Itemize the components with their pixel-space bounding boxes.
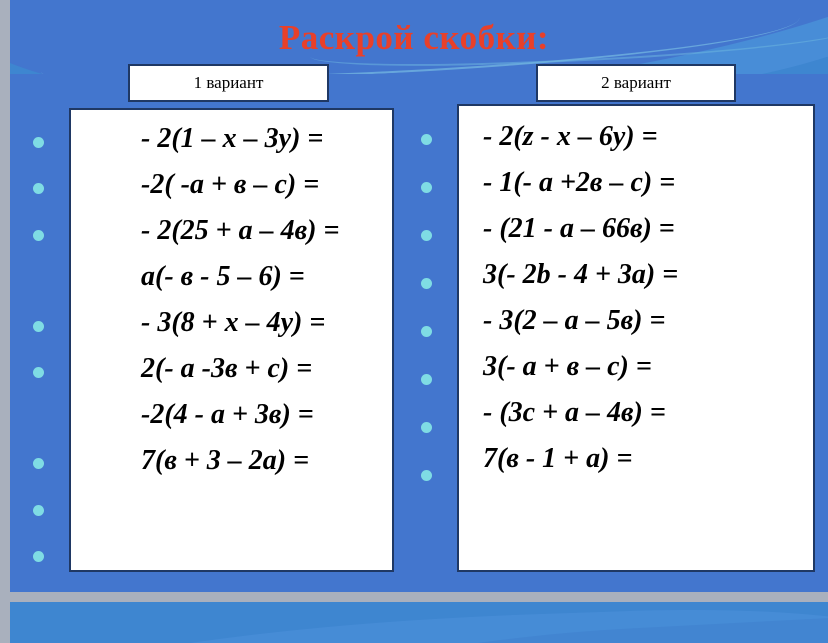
equation-item: - (21 - а – 66в) =	[483, 206, 807, 252]
bullet-marker	[421, 182, 432, 193]
equation-item: -2( -а + в – с) =	[75, 162, 388, 208]
bullet-marker	[33, 321, 44, 332]
equation-item: - 2(z - x – 6y) =	[483, 114, 807, 160]
equation-item: 3(- 2b - 4 + 3a) =	[483, 252, 807, 298]
bullet-marker	[33, 137, 44, 148]
bullet-marker	[33, 551, 44, 562]
equation-item: - 2(25 + а – 4в) =	[75, 208, 388, 254]
variant-1-equation-box: - 2(1 – х – 3у) = -2( -а + в – с) = - 2(…	[69, 108, 394, 572]
equation-item: - 3(2 – а – 5в) =	[483, 298, 807, 344]
slide: Раскрой скобки: 1 вариант 2 вариант - 2(…	[0, 0, 828, 643]
left-margin-strip	[0, 0, 10, 643]
equation-item: 7(в - 1 + а) =	[483, 436, 807, 482]
equation-item: 3(- а + в – с) =	[483, 344, 807, 390]
bullet-marker	[33, 367, 44, 378]
bullet-marker	[33, 505, 44, 516]
equation-item: - 2(1 – х – 3у) =	[75, 116, 388, 162]
equation-item: 2(- а -3в + с) =	[75, 346, 388, 392]
variant-2-equation-box: - 2(z - x – 6y) = - 1(- a +2в – с) = - (…	[457, 104, 815, 572]
background-bottom-band	[10, 602, 828, 643]
equation-item: 7(в + 3 – 2а) =	[75, 438, 388, 484]
bullet-marker	[421, 278, 432, 289]
variant-2-header: 2 вариант	[536, 64, 736, 102]
bullet-marker	[421, 230, 432, 241]
bullet-marker	[33, 230, 44, 241]
equation-item: - 1(- a +2в – с) =	[483, 160, 807, 206]
bullet-marker	[421, 134, 432, 145]
equation-item: -2(4 - а + 3в) =	[75, 392, 388, 438]
equation-item: а(- в - 5 – 6) =	[75, 254, 388, 300]
bullet-marker	[421, 422, 432, 433]
bullet-marker	[33, 458, 44, 469]
equation-item: - 3(8 + х – 4у) =	[75, 300, 388, 346]
variant-2-equation-list: - 2(z - x – 6y) = - 1(- a +2в – с) = - (…	[459, 106, 813, 482]
equation-item: - (3с + а – 4в) =	[483, 390, 807, 436]
bullet-marker	[421, 326, 432, 337]
page-title: Раскрой скобки:	[0, 18, 828, 58]
bullet-marker	[33, 183, 44, 194]
bullet-marker	[421, 374, 432, 385]
variant-1-equation-list: - 2(1 – х – 3у) = -2( -а + в – с) = - 2(…	[71, 110, 392, 484]
variant-1-header: 1 вариант	[128, 64, 329, 102]
bullet-marker	[421, 470, 432, 481]
bottom-divider	[0, 592, 828, 602]
